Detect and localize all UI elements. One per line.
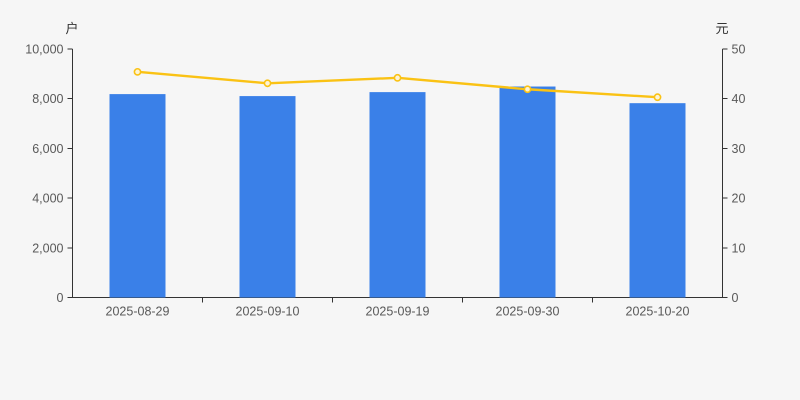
bar	[240, 96, 296, 297]
right-axis-tick-label: 50	[732, 43, 746, 57]
left-axis-unit-label: 户	[65, 21, 78, 37]
left-axis-tick-label: 10,000	[25, 43, 63, 57]
dual-axis-bar-line-chart: 户 元 02,0004,0006,0008,00010,000 01020304…	[0, 0, 800, 400]
right-axis-tick-label: 30	[732, 142, 746, 156]
chart-container: 户 元 02,0004,0006,0008,00010,000 01020304…	[0, 0, 800, 400]
x-axis-category-label: 2025-08-29	[106, 305, 170, 319]
right-axis-unit-label: 元	[715, 22, 728, 37]
left-axis-tick-label: 6,000	[32, 142, 63, 156]
x-axis-category-label: 2025-09-30	[496, 305, 560, 319]
line-data-point	[394, 75, 400, 81]
line-data-point	[134, 69, 140, 75]
line-data-point	[264, 80, 270, 86]
bar	[500, 87, 556, 298]
x-axis-category-label: 2025-09-10	[236, 305, 300, 319]
bar	[630, 103, 686, 297]
right-axis-tick-label: 20	[732, 192, 746, 206]
right-axis-tick-label: 10	[732, 241, 746, 255]
right-axis-tick-label: 40	[732, 92, 746, 106]
bar	[110, 94, 166, 297]
right-axis-tick-label: 0	[732, 291, 739, 305]
x-axis-category-label: 2025-09-19	[366, 305, 430, 319]
line-data-point	[524, 86, 530, 92]
left-axis-tick-label: 4,000	[32, 192, 63, 206]
left-axis-tick-label: 0	[57, 291, 64, 305]
left-axis-tick-label: 2,000	[32, 241, 63, 255]
left-axis-tick-label: 8,000	[32, 92, 63, 106]
line-data-point	[654, 94, 660, 100]
bar	[370, 92, 426, 297]
x-axis-category-label: 2025-10-20	[626, 305, 690, 319]
